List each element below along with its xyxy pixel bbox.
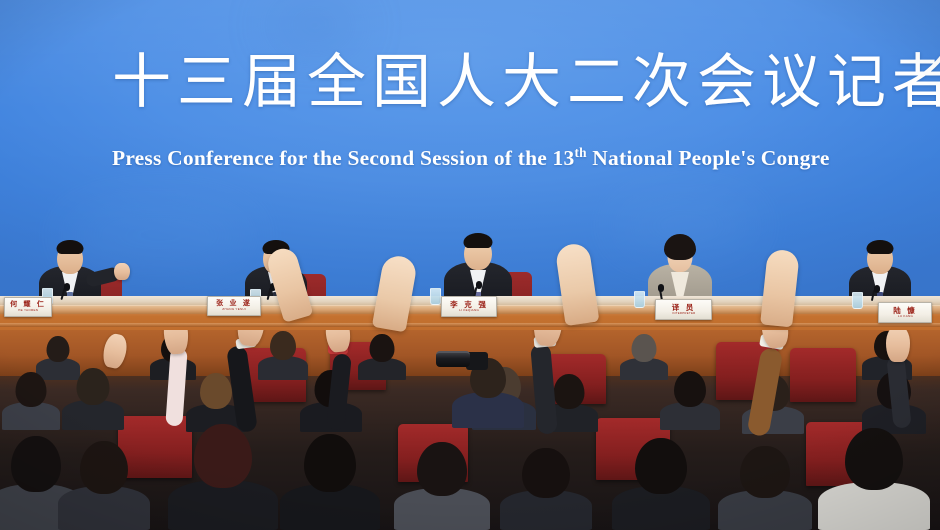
camera-telephoto-lens [436, 351, 470, 367]
audience-person-n3 [168, 426, 278, 530]
nameplate-2-name-en: ZHANG YESUI [222, 308, 246, 311]
audience-head [80, 441, 128, 494]
press-conference-photo: 十三届全国人大二次会议记者会 Press Conference for the … [0, 0, 940, 530]
audience-area [0, 330, 940, 530]
audience-head [194, 424, 252, 488]
raised-hand-6 [886, 330, 910, 362]
backdrop-shade-1 [270, 5, 360, 45]
audience-head [554, 374, 585, 409]
audience-person-n8 [718, 450, 812, 530]
audience-head [77, 368, 110, 405]
audience-head [674, 371, 706, 407]
audience-person-f4 [358, 334, 406, 380]
water-glass-5 [852, 292, 863, 309]
banner-english-title: Press Conference for the Second Session … [112, 146, 830, 170]
audience-person-n6 [500, 454, 592, 530]
nameplate-4-name-en: INTERPRETER [672, 312, 695, 315]
banner-chinese-title: 十三届全国人大二次会议记者会 [112, 52, 940, 111]
audience-head [417, 442, 467, 496]
audience-person-n5 [394, 446, 490, 530]
audience-head [47, 336, 70, 362]
audience-head [522, 448, 570, 498]
microphone-1-head [64, 283, 70, 291]
nameplate-seat-4: 译 员 INTERPRETER [655, 299, 712, 320]
dais-moulding [0, 323, 940, 327]
audience-person-n2 [58, 442, 150, 530]
audience-person-m1 [2, 372, 60, 430]
water-glass-3 [430, 288, 441, 305]
panelist-hair-5 [867, 240, 894, 254]
audience-head [740, 446, 790, 498]
microphone-4-head [658, 284, 664, 292]
nameplate-seat-3: 李 克 强 LI KEQIANG [441, 296, 497, 317]
nameplate-seat-1: 何 耀 仁 HE YAOREN [4, 297, 52, 317]
nameplate-seat-2: 张 业 遂 ZHANG YESUI [207, 296, 261, 316]
audience-person-m7 [660, 370, 720, 430]
microphone-3-head [476, 281, 482, 289]
panelist-hair-3 [464, 233, 493, 248]
audience-person-n4 [280, 438, 380, 530]
audience-head [370, 334, 395, 362]
nameplate-1-name-en: HE YAOREN [18, 309, 38, 312]
nameplate-2-name-cn: 张 业 遂 [216, 300, 252, 307]
audience-head [200, 373, 232, 409]
nameplate-4-name-cn: 译 员 [672, 304, 696, 312]
audience-head [632, 334, 657, 362]
panelist-hair-1 [57, 240, 84, 254]
water-glass-4 [634, 291, 645, 308]
audience-person-n7 [612, 440, 710, 530]
banner-english-before: Press Conference for the Second Session … [112, 146, 574, 170]
panelist-1-gesture-hand [114, 263, 130, 280]
audience-head [11, 436, 61, 492]
nameplate-3-name-cn: 李 克 强 [450, 301, 488, 309]
banner-english-after: National People's Congre [587, 146, 830, 170]
panelist-hair-4 [664, 234, 696, 260]
nameplate-seat-5: 陆 慷 LU KANG [878, 302, 932, 323]
nameplate-5-name-en: LU KANG [897, 315, 912, 318]
audience-head [845, 428, 903, 490]
banner-english-ordinal: th [574, 145, 586, 160]
audience-person-m2 [62, 368, 124, 430]
microphone-5-head [874, 285, 880, 293]
audience-head [304, 434, 356, 492]
audience-head [635, 438, 687, 494]
nameplate-5-name-cn: 陆 慷 [893, 307, 917, 315]
nameplate-3-name-en: LI KEQIANG [459, 309, 479, 312]
audience-person-n9 [818, 430, 930, 530]
audience-head [16, 372, 47, 407]
audience-head [270, 331, 296, 360]
nameplate-1-name-cn: 何 耀 仁 [10, 301, 46, 308]
